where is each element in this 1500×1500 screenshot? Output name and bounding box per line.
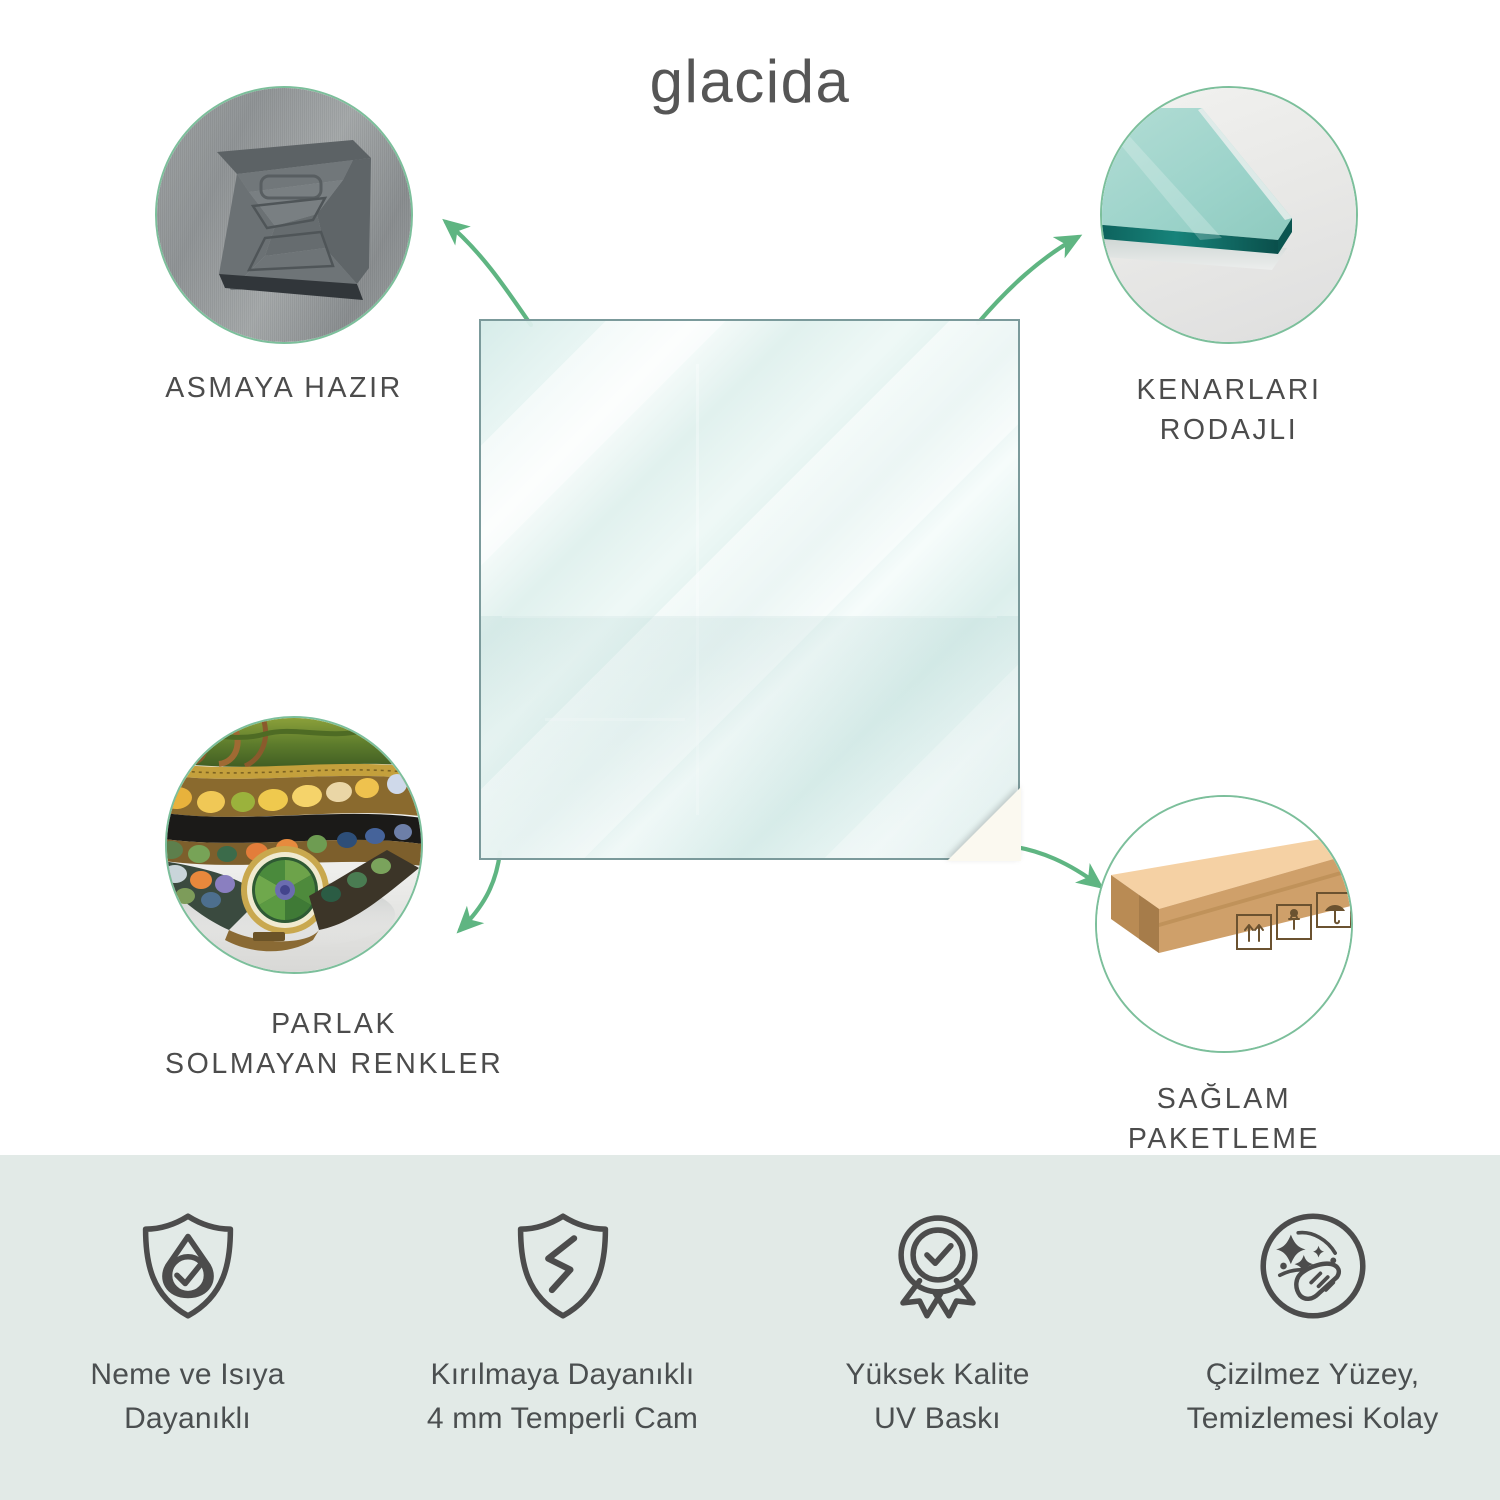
feature-hanging-image [155,86,413,344]
stained-glass-shape [167,718,423,974]
benefit-shatter-resistant: Kırılmaya Dayanıklı 4 mm Temperli Cam [383,1207,743,1442]
sparkle-cleaning-hand-icon [1254,1207,1372,1325]
feature-colors-image [165,716,423,974]
benefit-uv-print-label: Yüksek Kalite UV Baskı [845,1353,1029,1442]
feature-hanging-label: ASMAYA HAZIR [155,368,413,408]
feature-colors: PARLAK SOLMAYAN RENKLER [165,716,503,1085]
feature-colors-label: PARLAK SOLMAYAN RENKLER [165,1004,503,1085]
benefit-uv-print: Yüksek Kalite UV Baskı [758,1207,1118,1442]
benefit-moisture-heat: Neme ve Isıya Dayanıklı [8,1207,368,1442]
glass-reflection-horizontal [502,616,996,618]
glass-surface [479,319,1020,860]
glass-panel [479,319,1020,860]
feature-edges-image [1100,86,1358,344]
feature-hanging: ASMAYA HAZIR [155,86,413,408]
shield-droplet-check-icon [129,1207,247,1325]
arrow-to-hanging [446,222,531,325]
feature-edges-label: KENARLARI RODAJLI [1100,370,1358,451]
feature-packing-image [1095,795,1353,1053]
arrow-to-edges [978,237,1078,323]
glass-edge-shape [1102,88,1358,344]
glass-reflection-vertical [696,364,699,815]
glass-folded-corner [947,787,1021,861]
benefit-moisture-heat-label: Neme ve Isıya Dayanıklı [90,1353,284,1442]
glass-reflection-sill [545,718,685,721]
shield-bolt-icon [504,1207,622,1325]
bracket-shape [157,88,413,344]
feature-edges: KENARLARI RODAJLI [1100,86,1358,451]
feature-packing-label: SAĞLAM PAKETLEME [1095,1079,1353,1160]
benefit-shatter-resistant-label: Kırılmaya Dayanıklı 4 mm Temperli Cam [427,1353,698,1442]
benefit-scratch-free-label: Çizilmez Yüzey, Temizlemesi Kolay [1187,1353,1439,1442]
cardboard-box-shape [1097,797,1353,1053]
award-medal-check-icon [879,1207,997,1325]
benefits-bar: Neme ve Isıya Dayanıklı Kırılmaya Dayanı… [0,1155,1500,1500]
feature-packing: SAĞLAM PAKETLEME [1095,795,1353,1160]
benefit-scratch-free: Çizilmez Yüzey, Temizlemesi Kolay [1133,1207,1493,1442]
